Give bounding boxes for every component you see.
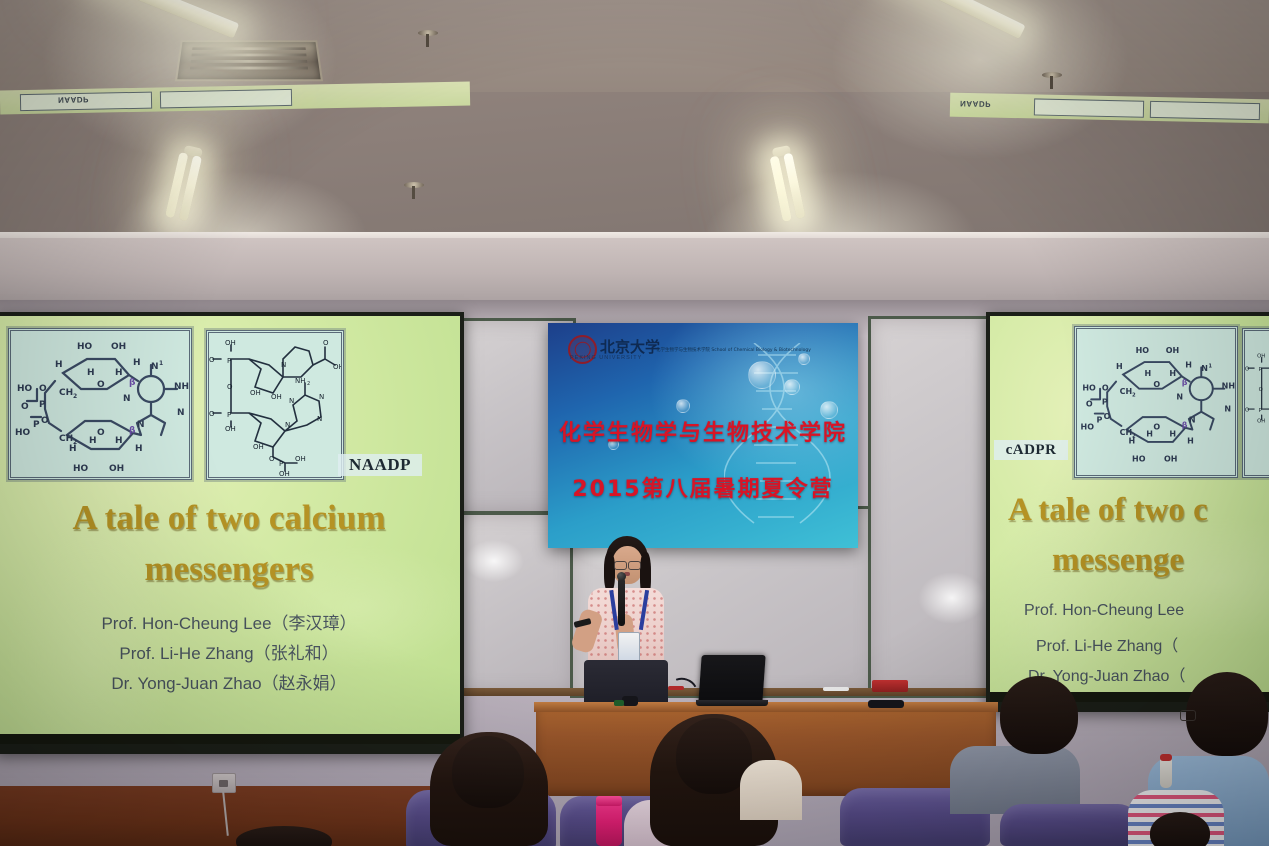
slide-title-line1: A tale of two calcium (0, 498, 460, 538)
svg-text:P: P (33, 420, 40, 430)
svg-text:1: 1 (159, 360, 163, 367)
slide-right-speaker-line1: Prof. Hon-Cheung Lee (1024, 602, 1269, 620)
svg-text:OH: OH (253, 443, 264, 451)
svg-text:HO: HO (1082, 383, 1096, 392)
water-bottle-cap (596, 796, 622, 806)
svg-text:HO: HO (73, 464, 89, 474)
molecule-label-cadpr: cADPR (994, 440, 1068, 460)
slide-right-title-line1: A tale of two c (1008, 492, 1269, 529)
svg-text:O: O (39, 384, 47, 394)
svg-text:HO: HO (77, 342, 93, 352)
svg-text:N: N (319, 393, 324, 401)
speaker-hair-left (604, 552, 615, 592)
svg-text:O: O (1153, 423, 1160, 432)
svg-text:H: H (87, 368, 95, 378)
svg-text:2: 2 (307, 381, 310, 387)
svg-text:H: H (1169, 430, 1176, 439)
svg-text:N: N (1201, 364, 1208, 373)
svg-text:H: H (1146, 430, 1153, 439)
svg-text:OH: OH (295, 455, 306, 463)
sprinkler-head-icon (418, 30, 427, 46)
desk-object-dark (868, 700, 904, 708)
svg-text:OH: OH (1166, 346, 1179, 355)
svg-text:H: H (1128, 437, 1135, 446)
water-bottle-right-cap (1160, 754, 1172, 761)
svg-text:O: O (1245, 366, 1249, 372)
svg-text:H: H (69, 444, 77, 454)
svg-text:O: O (269, 455, 275, 463)
svg-text:OH: OH (279, 470, 290, 477)
svg-text:H: H (1169, 369, 1176, 378)
svg-text:H: H (55, 360, 63, 370)
event-banner: 北京大学 PEKING UNIVERSITY 化学生物学与生物技术学院 Scho… (548, 323, 858, 548)
svg-text:1: 1 (1208, 363, 1212, 369)
svg-text:OH: OH (1257, 419, 1265, 425)
slide-left: HOOH HHHH CH2 O β N1 NH NNN HOO PO OP HO… (0, 316, 460, 744)
svg-text:H: H (115, 436, 123, 446)
svg-text:H: H (135, 444, 143, 454)
banner-title-line1: 化学生物学与生物技术学院 (548, 415, 858, 447)
svg-text:β: β (1182, 378, 1188, 387)
microphone-head-icon (617, 572, 626, 581)
svg-text:O: O (21, 402, 29, 412)
student-head-front (1150, 812, 1210, 846)
spill-text-fragment-right: NAADP (960, 99, 991, 109)
svg-text:CH: CH (59, 388, 73, 398)
whiteboard-right (868, 316, 996, 698)
svg-text:O: O (227, 383, 233, 391)
pku-name-cn: 北京大学 (600, 336, 660, 357)
svg-text:β: β (129, 378, 136, 388)
spill-text-fragment: NAADP (58, 95, 89, 105)
svg-text:OH: OH (1257, 354, 1265, 360)
svg-text:N: N (151, 362, 159, 372)
slide-speaker-line3: Dr. Yong-Juan Zhao（赵永娟） (0, 669, 460, 694)
slide-right-title-line2: messenge (1052, 542, 1269, 579)
svg-text:O: O (1102, 383, 1109, 392)
laptop-screen (698, 655, 765, 703)
svg-text:CH: CH (59, 434, 73, 444)
svg-text:N: N (285, 421, 290, 429)
svg-text:N: N (1176, 392, 1183, 401)
marker-white (823, 687, 849, 691)
molecule-label-naadp: NAADP (338, 454, 422, 476)
svg-text:P: P (1097, 415, 1103, 424)
svg-text:O: O (1153, 380, 1160, 389)
svg-text:HO: HO (15, 428, 31, 438)
sprinkler-head-icon (1042, 72, 1051, 88)
svg-text:N: N (123, 394, 131, 404)
svg-text:O: O (97, 380, 105, 390)
svg-text:NH: NH (295, 377, 306, 385)
svg-text:N: N (281, 361, 286, 369)
svg-text:H: H (1116, 362, 1123, 371)
student-glasses-icon (1180, 710, 1196, 721)
svg-text:CH: CH (1120, 387, 1133, 396)
svg-text:N: N (317, 415, 322, 423)
speaker-glasses-icon (614, 561, 627, 570)
svg-text:N: N (1189, 415, 1196, 424)
svg-text:O: O (209, 410, 215, 418)
ceiling (0, 0, 1269, 268)
svg-text:O: O (209, 356, 215, 364)
microphone-icon (618, 578, 625, 626)
svg-text:O: O (1259, 387, 1263, 393)
svg-text:NH: NH (1222, 382, 1235, 391)
laptop-base (696, 700, 768, 706)
svg-text:N: N (137, 420, 145, 430)
svg-text:H: H (1187, 437, 1194, 446)
svg-text:OH: OH (225, 339, 236, 347)
molecule-diagram-naadp-right: OHOP OOP OH (1242, 328, 1269, 478)
svg-text:O: O (1086, 399, 1093, 408)
projection-screen-right: cADPR HOOH HHHH CH2 (986, 312, 1269, 712)
student-sweater-cream (740, 760, 802, 820)
svg-text:OH: OH (109, 464, 124, 474)
svg-text:O: O (97, 428, 105, 438)
air-conditioning-vent-icon (175, 40, 323, 81)
water-bottle-right (1160, 758, 1172, 788)
ceiling-light-fixture-left (161, 149, 210, 225)
svg-text:P: P (1102, 398, 1108, 407)
svg-text:P: P (39, 400, 46, 410)
pku-department-line: 化学生物学与生物技术学院 School of Chemical Biology … (656, 347, 811, 353)
svg-text:O: O (323, 339, 329, 347)
svg-text:NH: NH (174, 382, 189, 392)
svg-text:OH: OH (333, 363, 341, 371)
svg-text:H: H (1144, 369, 1151, 378)
ceiling-light-fixture-right (765, 149, 813, 225)
svg-text:β: β (1182, 421, 1188, 430)
svg-text:OH: OH (250, 389, 261, 397)
speaker-glasses-icon (628, 561, 641, 570)
banner-title-line2: 2015第八届暑期夏令营 (548, 471, 858, 503)
svg-text:N: N (289, 397, 294, 405)
svg-text:HO: HO (1081, 423, 1095, 432)
svg-text:O: O (1245, 407, 1249, 413)
slide-right-speaker-line2: Prof. Li-He Zhang（ (1036, 632, 1269, 656)
svg-text:β: β (129, 426, 136, 436)
molecule-diagram-cadpr-right: HOOH HHHH CH2 Oβ N1 NH NNN HOO PO OP HO … (1074, 326, 1238, 478)
projection-screen-left: HOOH HHHH CH2 O β N1 NH NNN HOO PO OP HO… (0, 312, 464, 754)
student-head (452, 736, 524, 808)
svg-text:N: N (1224, 405, 1231, 414)
desk-object-green (614, 700, 624, 706)
molecule-diagram-cadpr: HOOH HHHH CH2 O β N1 NH NNN HOO PO OP HO… (8, 328, 192, 480)
lecture-hall-photo: NAADP NAADP (0, 0, 1269, 846)
board-eraser (872, 680, 908, 692)
svg-text:P: P (227, 357, 231, 365)
svg-text:H: H (133, 358, 141, 368)
svg-text:2: 2 (1132, 393, 1136, 399)
chair-back (1000, 804, 1140, 846)
student-head (1000, 676, 1078, 754)
svg-text:H: H (1185, 360, 1192, 369)
svg-text:O: O (41, 416, 49, 426)
svg-text:CH: CH (1120, 428, 1133, 437)
svg-text:H: H (115, 368, 123, 378)
svg-text:O: O (1104, 412, 1111, 421)
sprinkler-head-icon (404, 182, 413, 198)
svg-text:OH: OH (271, 393, 282, 401)
svg-text:N: N (177, 408, 185, 418)
svg-text:P: P (227, 411, 231, 419)
svg-text:HO: HO (1136, 346, 1150, 355)
speaker-name-badge (618, 632, 640, 662)
svg-text:OH: OH (225, 425, 236, 433)
svg-text:HO: HO (1132, 454, 1146, 463)
pku-name-en: PEKING UNIVERSITY (570, 355, 642, 361)
svg-text:OH: OH (1164, 454, 1177, 463)
slide-right: cADPR HOOH HHHH CH2 (990, 316, 1269, 702)
desk-object-small (622, 696, 638, 706)
student-head (1186, 672, 1268, 756)
slide-speaker-line2: Prof. Li-He Zhang（张礼和） (0, 639, 460, 664)
water-bottle (596, 802, 622, 846)
svg-text:2: 2 (73, 393, 77, 400)
svg-text:HO: HO (17, 384, 33, 394)
svg-text:P: P (279, 460, 283, 468)
slide-speaker-line1: Prof. Hon-Cheung Lee（李汉璋） (0, 609, 460, 634)
molecule-diagram-naadp: OHOP OOP OH OHOH NOOH NH2 NNNN OHO POHOH (206, 330, 344, 480)
svg-text:OH: OH (111, 342, 126, 352)
wall-wainscot (0, 786, 470, 846)
slide-title-line2: messengers (0, 549, 460, 589)
svg-text:H: H (89, 436, 97, 446)
